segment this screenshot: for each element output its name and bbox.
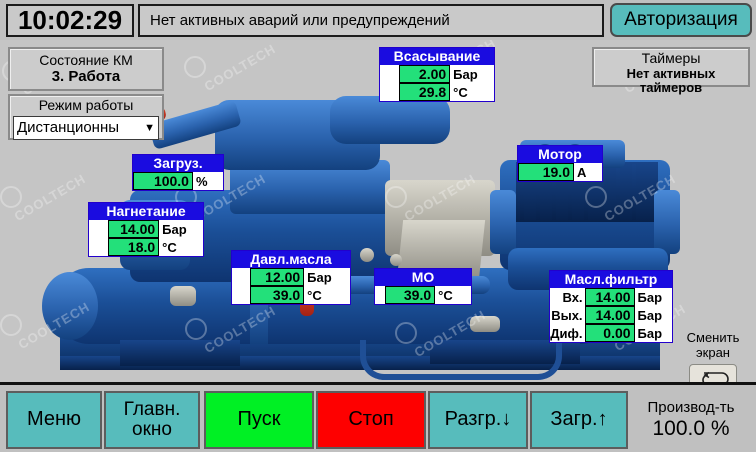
change-screen-label-line1: Сменить [676,330,750,345]
tag-mo: МО 39.0 °C [374,268,472,305]
tag-discharge-pressure-value: 14.00 [108,220,159,238]
compressor-state-title: Состояние КМ [10,53,162,69]
tag-oil-temperature-unit: °C [304,286,350,304]
tag-discharge-row-2: 18.0 °C [89,238,203,256]
operating-mode-dropdown[interactable]: Дистанционны ▼ [13,116,159,140]
tag-oil-filter-in-value: 14.00 [585,288,635,306]
capacity-display: Производ-ть 100.0 % [632,391,750,449]
capacity-value: 100.0 % [652,417,729,441]
capacity-title: Производ-ть [648,399,735,417]
load-button[interactable]: Загр.↑ [530,391,628,449]
tag-load-unit: % [193,172,223,190]
authorization-button[interactable]: Авторизация [610,3,752,37]
operating-mode-selected: Дистанционны [17,119,119,136]
tag-discharge-pressure-unit: Бар [159,220,203,238]
alarm-status-bar: Нет активных аварий или предупреждений [138,4,604,37]
tag-oil-pressure-value: 12.00 [250,268,305,286]
timers-value: Нет активных таймеров [594,67,748,96]
timers-title: Таймеры [594,51,748,67]
tag-oil-filter-out-label: Вых. [550,306,585,324]
tag-oil-filter-row-2: Вых. 14.00 Бар [550,306,672,324]
tag-discharge-row-1: 14.00 Бар [89,220,203,238]
tag-suction-temperature-unit: °C [450,83,494,101]
tag-mo-value: 39.0 [385,286,435,304]
tag-oil-pressure-unit: Бар [304,268,350,286]
tag-oil-pressure-row-2: 39.0 °C [232,286,350,304]
tag-load-value: 100.0 [133,172,193,190]
tag-oil-filter-title: Масл.фильтр [550,271,672,288]
tag-discharge-title: Нагнетание [89,203,203,220]
tag-motor-row-1: 19.0 A [518,163,602,181]
tag-oil-pressure: Давл.масла 12.00 Бар 39.0 °C [231,250,351,305]
menu-button[interactable]: Меню [6,391,102,449]
change-screen-control: Сменить экран [676,330,750,382]
tag-motor-title: Мотор [518,146,602,163]
tag-suction-pressure-value: 2.00 [399,65,450,83]
main-window-button[interactable]: Главн. окно [104,391,200,449]
clock-display: 10:02:29 [6,4,134,37]
operating-mode-title: Режим работы [10,98,162,114]
tag-suction-title: Всасывание [380,48,494,65]
tag-suction-row-1: 2.00 Бар [380,65,494,83]
change-screen-label-line2: экран [676,345,750,360]
tag-oil-filter-out-unit: Бар [635,306,672,324]
stop-button[interactable]: Стоп [316,391,426,449]
loop-arrow-icon [696,370,730,382]
top-bar: 10:02:29 Нет активных аварий или предупр… [0,0,756,40]
tag-load: Загруз. 100.0 % [132,154,224,191]
tag-oil-filter-diff-label: Диф. [550,324,585,342]
tag-oil-filter-diff-value: 0.00 [585,324,635,342]
tag-discharge: Нагнетание 14.00 Бар 18.0 °C [88,202,204,257]
main-mimic-area: COOLTECH COOLTECH COOLTECH COOLTECH COOL… [0,40,756,382]
chevron-down-icon: ▼ [144,122,155,134]
tag-suction-pressure-unit: Бар [450,65,494,83]
start-button[interactable]: Пуск [204,391,314,449]
tag-discharge-temperature-unit: °C [159,238,203,256]
unload-button[interactable]: Разгр.↓ [428,391,528,449]
tag-load-row-1: 100.0 % [133,172,223,190]
tag-oil-filter-in-unit: Бар [635,288,672,306]
tag-load-title: Загруз. [133,155,223,172]
tag-suction-row-2: 29.8 °C [380,83,494,101]
timers-panel: Таймеры Нет активных таймеров [592,47,750,87]
tag-oil-temperature-value: 39.0 [250,286,305,304]
tag-motor: Мотор 19.0 A [517,145,603,182]
compressor-state-panel: Состояние КМ 3. Работа [8,47,164,91]
bottom-button-bar: Меню Главн. окно Пуск Стоп Разгр.↓ Загр.… [0,382,756,452]
tag-oil-filter-row-3: Диф. 0.00 Бар [550,324,672,342]
tag-suction-temperature-value: 29.8 [399,83,450,101]
tag-mo-unit: °C [435,286,471,304]
change-screen-button[interactable] [689,364,737,382]
tag-oil-pressure-title: Давл.масла [232,251,350,268]
tag-discharge-temperature-value: 18.0 [108,238,159,256]
tag-oil-filter-in-label: Вх. [550,288,585,306]
tag-oil-pressure-row-1: 12.00 Бар [232,268,350,286]
tag-oil-filter: Масл.фильтр Вх. 14.00 Бар Вых. 14.00 Бар… [549,270,673,343]
operating-mode-panel: Режим работы Дистанционны ▼ [8,94,164,140]
compressor-state-value: 3. Работа [10,69,162,86]
tag-oil-filter-out-value: 14.00 [585,306,635,324]
tag-suction: Всасывание 2.00 Бар 29.8 °C [379,47,495,102]
tag-mo-title: МО [375,269,471,286]
tag-motor-current-unit: A [574,163,602,181]
tag-motor-current-value: 19.0 [518,163,574,181]
tag-oil-filter-diff-unit: Бар [635,324,672,342]
hmi-screen: 10:02:29 Нет активных аварий или предупр… [0,0,756,452]
tag-mo-row-1: 39.0 °C [375,286,471,304]
tag-oil-filter-row-1: Вх. 14.00 Бар [550,288,672,306]
